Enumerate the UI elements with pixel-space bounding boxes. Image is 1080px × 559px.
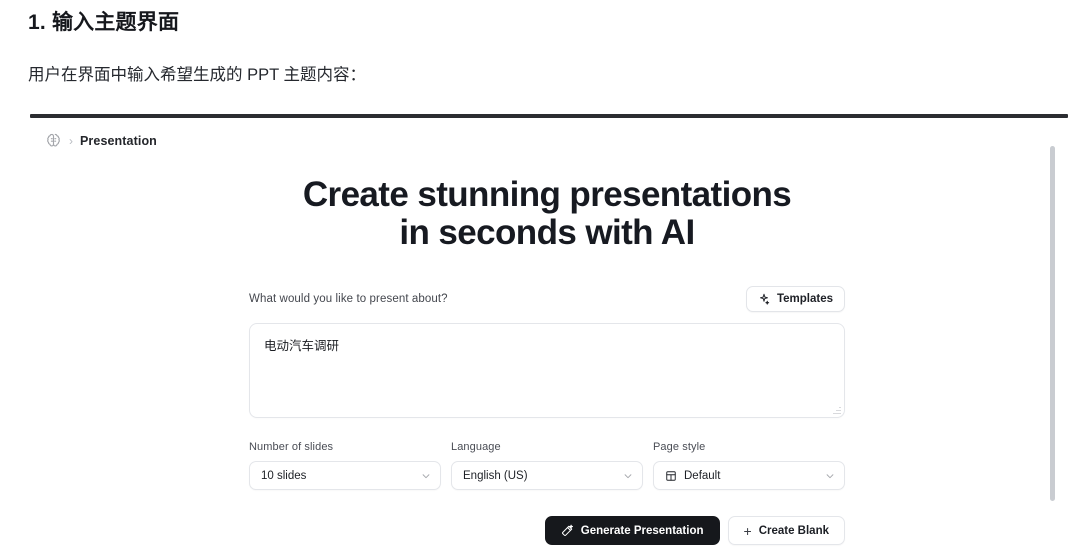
select-value-language: English (US): [463, 470, 616, 482]
magic-wand-icon: [561, 524, 574, 537]
prompt-header: What would you like to present about? Te…: [249, 286, 845, 312]
field-page-style: Page style Default: [653, 441, 845, 490]
templates-button-label: Templates: [777, 293, 833, 305]
hero-title: Create stunning presentations in seconds…: [303, 176, 791, 252]
chevron-down-icon: [623, 471, 633, 481]
field-label-number-of-slides: Number of slides: [249, 441, 441, 453]
create-blank-button[interactable]: + Create Blank: [728, 516, 846, 545]
breadcrumb-separator: ›: [69, 135, 73, 147]
field-language: Language English (US): [451, 441, 643, 490]
action-buttons: Generate Presentation + Create Blank: [249, 516, 845, 545]
brain-icon[interactable]: [45, 132, 62, 149]
prompt-input-value: 电动汽车调研: [264, 339, 339, 353]
prompt-label: What would you like to present about?: [249, 293, 448, 305]
select-page-style[interactable]: Default: [653, 461, 845, 490]
breadcrumb: › Presentation: [26, 118, 1068, 152]
select-language[interactable]: English (US): [451, 461, 643, 490]
prompt-input[interactable]: 电动汽车调研: [249, 323, 845, 418]
templates-button[interactable]: Templates: [746, 286, 845, 312]
intro-paragraph: 用户在界面中输入希望生成的 PPT 主题内容：: [28, 38, 1080, 88]
create-blank-label: Create Blank: [759, 525, 829, 537]
prompt-form: What would you like to present about? Te…: [249, 286, 845, 545]
generate-presentation-label: Generate Presentation: [581, 525, 704, 537]
field-label-language: Language: [451, 441, 643, 453]
field-number-of-slides: Number of slides 10 slides: [249, 441, 441, 490]
document-intro: 1. 输入主题界面 用户在界面中输入希望生成的 PPT 主题内容：: [0, 0, 1080, 88]
chevron-down-icon: [421, 471, 431, 481]
breadcrumb-current[interactable]: Presentation: [80, 134, 157, 148]
vertical-scrollbar[interactable]: [1050, 146, 1055, 554]
generate-presentation-button[interactable]: Generate Presentation: [545, 516, 720, 545]
chevron-down-icon: [825, 471, 835, 481]
page-title: 1. 输入主题界面: [28, 0, 1080, 38]
select-value-number-of-slides: 10 slides: [261, 470, 414, 482]
plus-icon: +: [744, 524, 752, 538]
options-row: Number of slides 10 slides Language Engl…: [249, 441, 845, 490]
app-screenshot: › Presentation Create stunning presentat…: [26, 118, 1068, 559]
scrollbar-thumb[interactable]: [1050, 146, 1055, 501]
field-label-page-style: Page style: [653, 441, 845, 453]
select-value-page-style: Default: [684, 470, 818, 482]
sparkle-icon: [758, 293, 770, 305]
textarea-resize-handle[interactable]: [833, 406, 841, 414]
select-number-of-slides[interactable]: 10 slides: [249, 461, 441, 490]
layout-icon: [665, 470, 677, 482]
presentation-creator: Create stunning presentations in seconds…: [26, 152, 1068, 545]
